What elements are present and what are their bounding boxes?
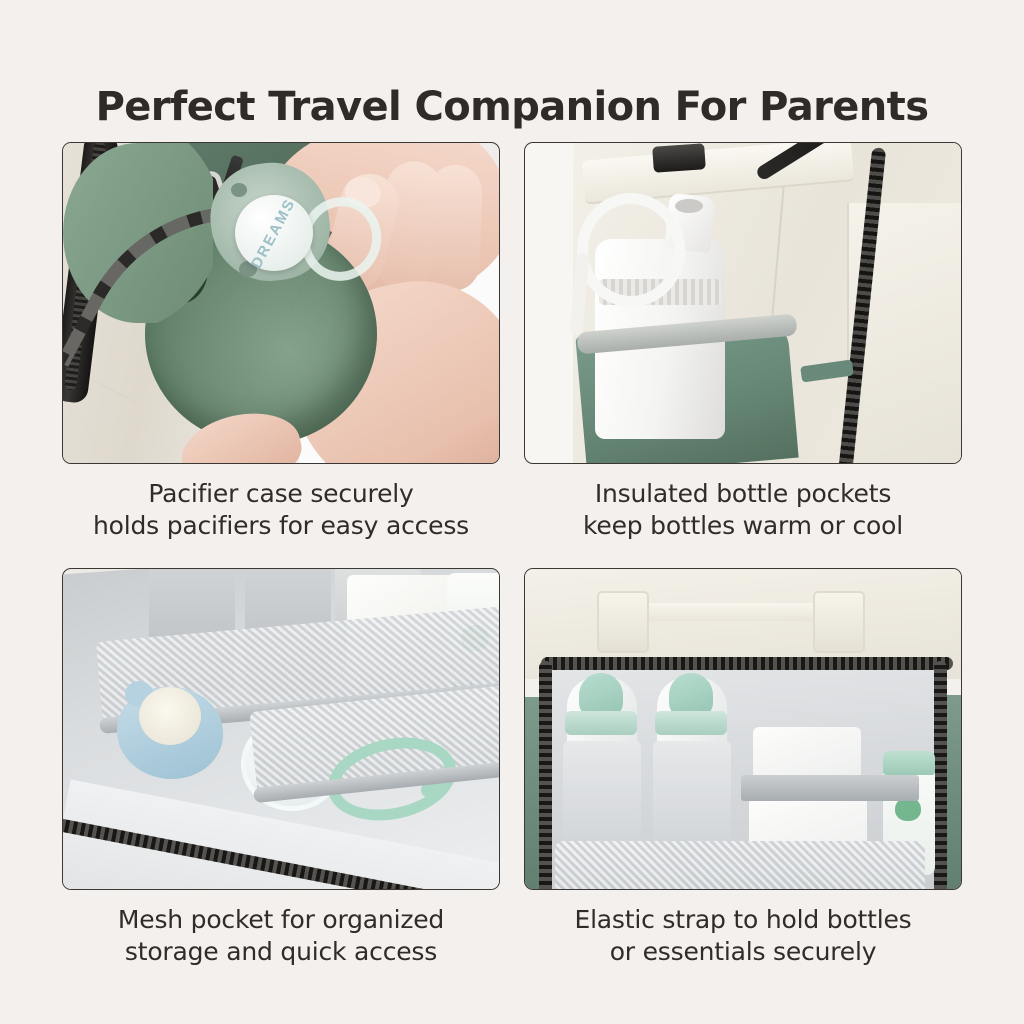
pacifier-button: DREAMS [235,195,313,271]
bottle-handle [577,193,685,307]
feature-image-elastic-strap: Puder [524,568,962,890]
plush-toy-face [139,687,201,745]
caption-line-1: Mesh pocket for organized [62,904,500,936]
caption-line-2: holds pacifiers for easy access [62,510,500,542]
bag-handle-loop [597,591,649,653]
caption-line-1: Insulated bottle pockets [524,478,962,510]
feature-image-mesh-pocket: Puder [62,568,500,890]
feature-card-mesh-pocket: Puder Mesh pocket for organized storage … [62,568,500,968]
bag-handle-loop [813,591,865,653]
feature-caption-mesh-pocket: Mesh pocket for organized storage and qu… [62,904,500,968]
feature-image-pacifier-case: DREAMS [62,142,500,464]
feature-card-insulated-bottle-pocket: Insulated bottle pockets keep bottles wa… [524,142,962,542]
caption-line-2: keep bottles warm or cool [524,510,962,542]
feature-image-insulated-bottle-pocket [524,142,962,464]
zipper-icon [934,661,947,890]
buckle-icon [652,143,706,173]
feature-caption-insulated-bottle-pocket: Insulated bottle pockets keep bottles wa… [524,478,962,542]
pacifier-vent-hole [231,183,247,197]
pacifier-button-label: DREAMS [248,195,299,271]
bottle-pocket [563,741,641,845]
caption-line-2: or essentials securely [524,936,962,968]
caption-line-2: storage and quick access [62,936,500,968]
zipper-icon [541,657,953,670]
mesh-pocket [555,841,925,890]
page-title: Perfect Travel Companion For Parents [0,85,1024,129]
caption-line-1: Elastic strap to hold bottles [524,904,962,936]
bottle-collar [655,711,727,735]
zipper-icon [539,661,552,890]
infographic-page: Perfect Travel Companion For Parents [0,0,1024,1024]
caption-line-1: Pacifier case securely [62,478,500,510]
powder-bottle-cap [883,751,935,775]
feature-card-pacifier-case: DREAMS Pacifier case securely holds paci… [62,142,500,542]
bottle-collar [565,711,637,735]
bag-handle-bar [617,603,843,621]
feature-grid: DREAMS Pacifier case securely holds paci… [62,142,962,968]
elastic-strap [741,775,919,801]
bottle-spout [675,199,703,213]
feature-caption-elastic-strap: Elastic strap to hold bottles or essenti… [524,904,962,968]
feature-card-elastic-strap: Puder Elastic strap to hold bottles or e… [524,568,962,968]
bottle-pocket [653,741,731,845]
feature-caption-pacifier-case: Pacifier case securely holds pacifiers f… [62,478,500,542]
